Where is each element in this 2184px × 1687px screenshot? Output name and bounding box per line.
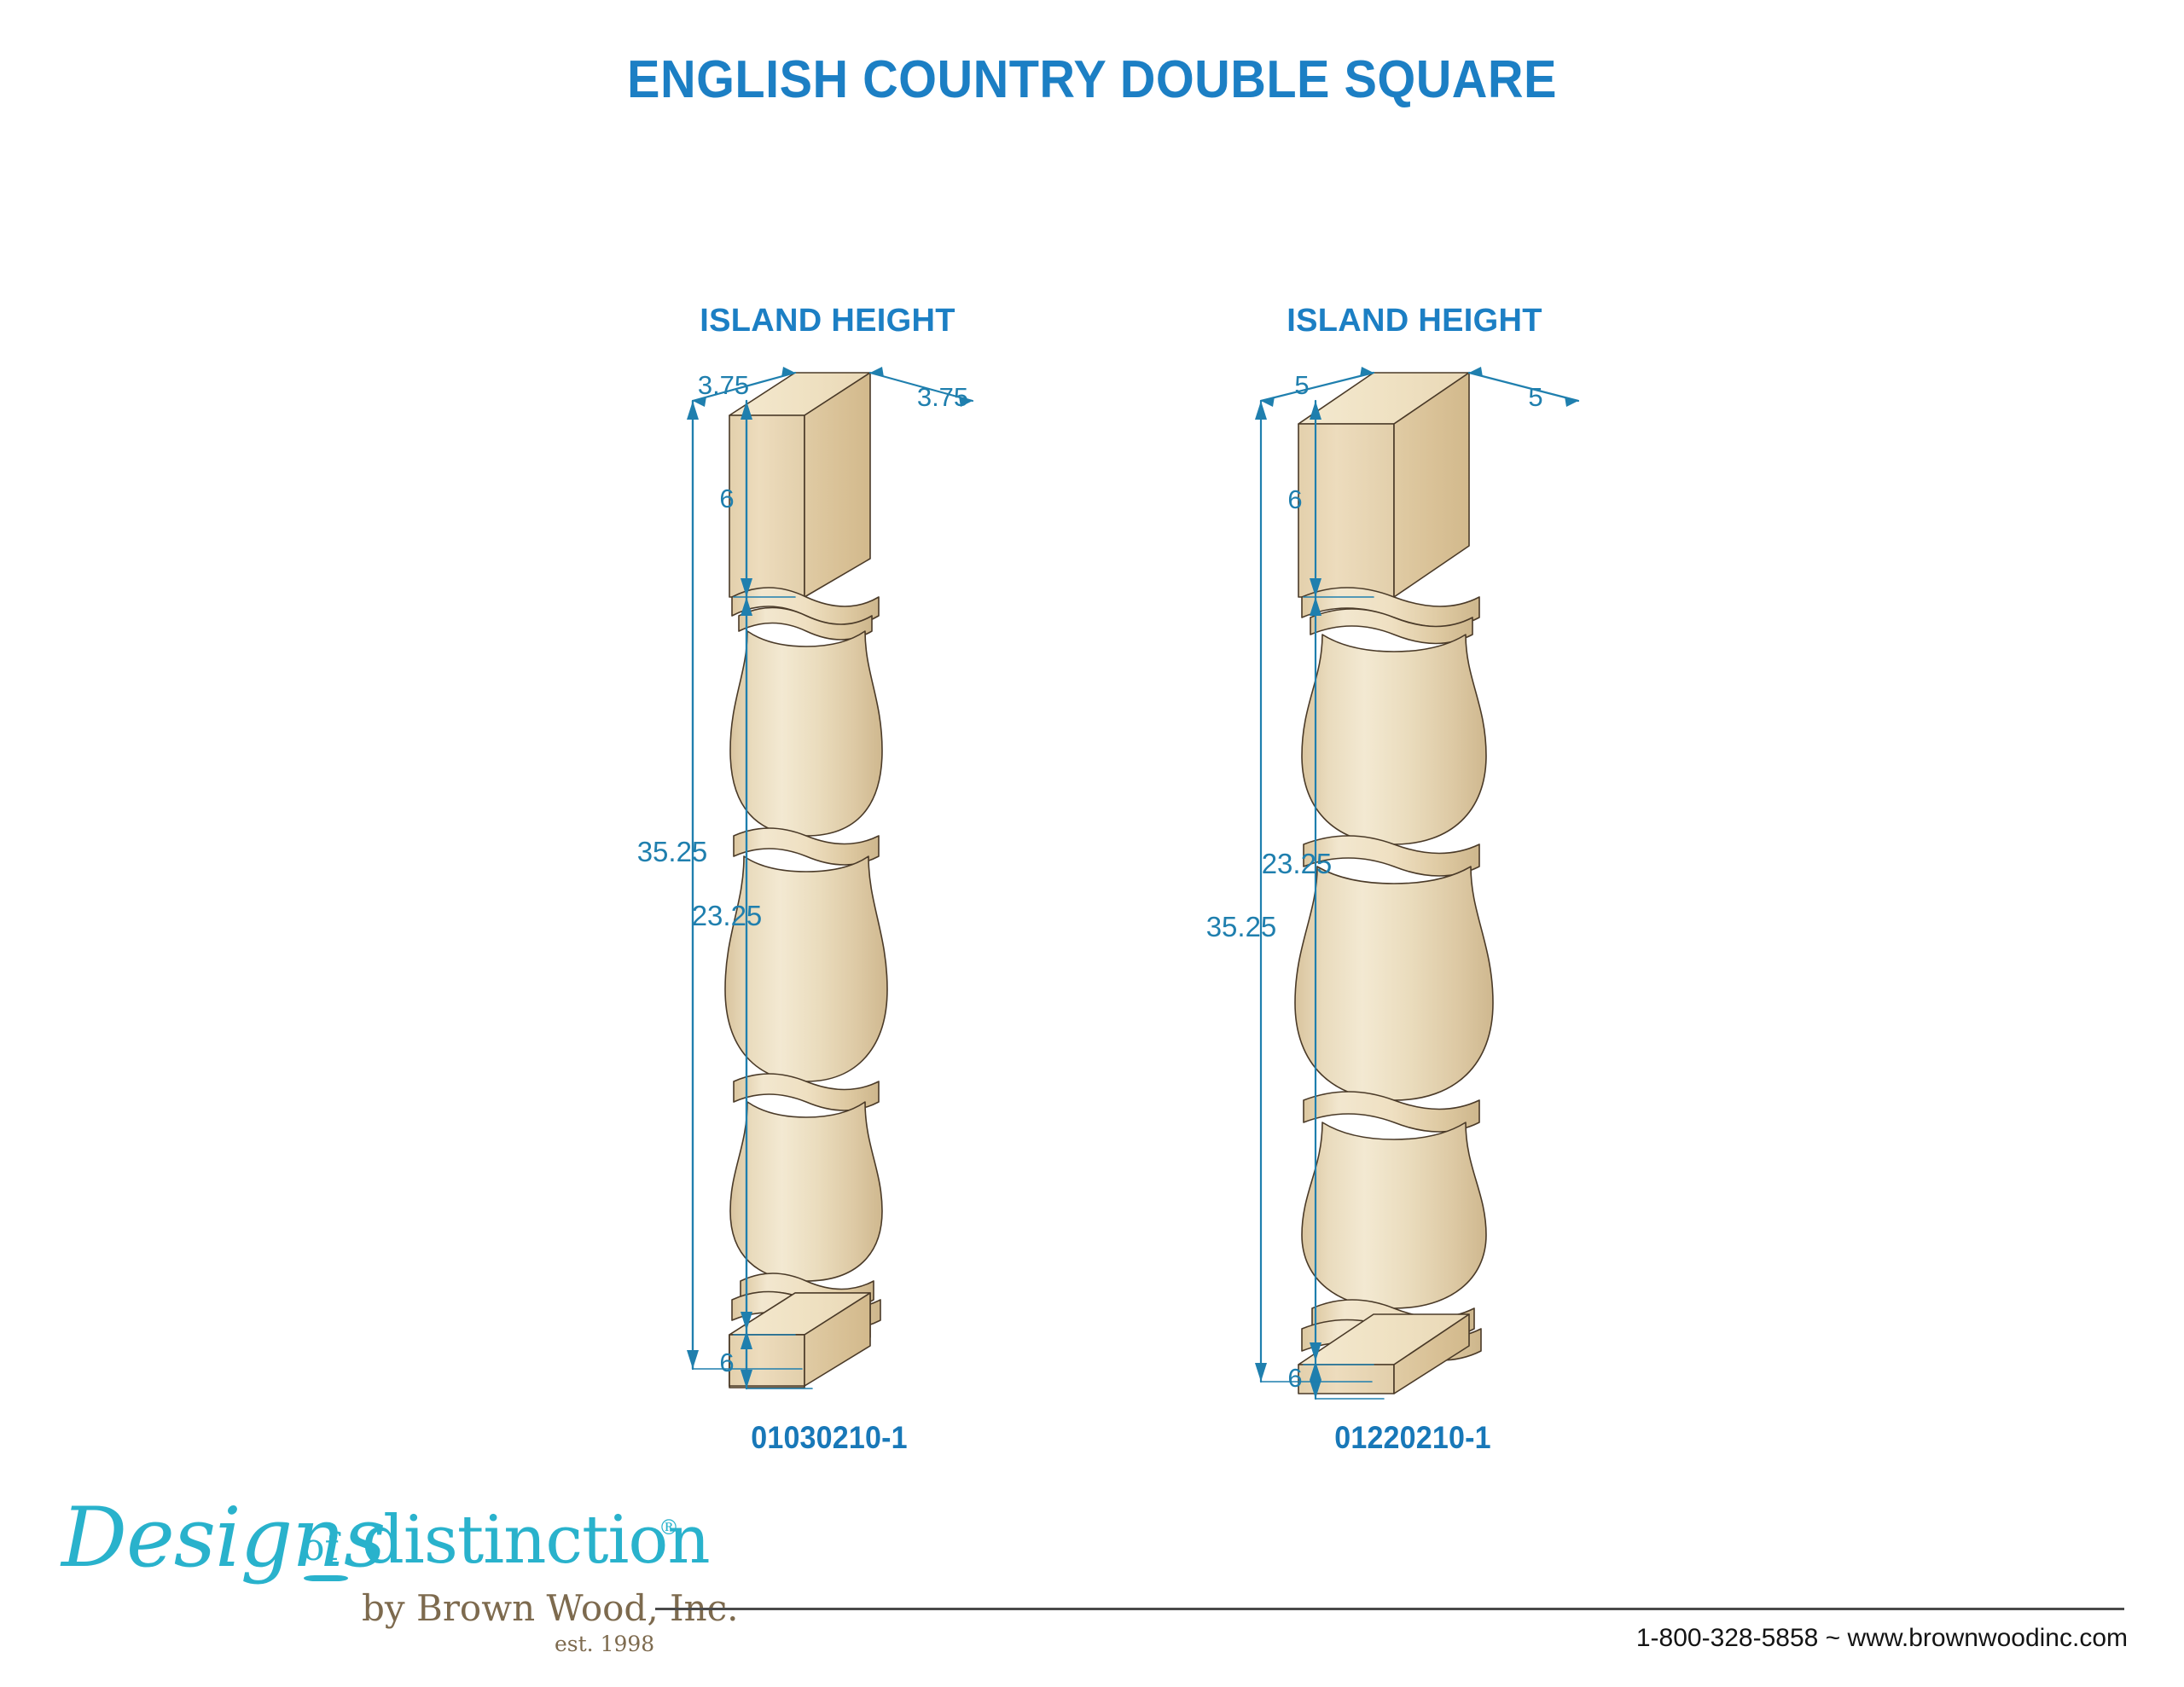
- dim-label-top-block-height: 6: [719, 484, 734, 513]
- product-figure-left: ISLAND HEIGHT: [597, 0, 1126, 1687]
- part-number-left: 01030210-1: [586, 1420, 1072, 1456]
- part-number-right: 01220210-1: [1138, 1420, 1687, 1456]
- product-figure-right: ISLAND HEIGHT: [1135, 0, 1732, 1687]
- company-logo: Designs of distinction ® by Brown Wood, …: [61, 1497, 710, 1655]
- footer-divider: [655, 1608, 2124, 1610]
- dim-label-turned-height: 23.25: [692, 900, 763, 931]
- registered-trademark-icon: ®: [659, 1516, 679, 1539]
- drawing-stage: ISLAND HEIGHT: [0, 0, 2184, 1687]
- dim-label-top-block-height: 6: [1287, 484, 1302, 514]
- dim-label-turned-height: 23.25: [1262, 848, 1333, 879]
- footer-contact-info: 1-800-328-5858 ~ www.brownwoodinc.com: [1636, 1624, 2128, 1653]
- dim-label-top-width-right: 5: [1528, 382, 1542, 412]
- logo-of-text: of: [302, 1526, 339, 1569]
- page-footer: Designs of distinction ® by Brown Wood, …: [0, 1491, 2184, 1687]
- dim-label-overall-height: 35.25: [1206, 911, 1277, 942]
- dim-label-bottom-block-height: 6: [719, 1348, 734, 1377]
- dim-label-top-width-left: 5: [1294, 370, 1309, 400]
- dim-label-top-width-left: 3.75: [698, 370, 749, 400]
- dim-label-overall-height: 35.25: [637, 836, 708, 867]
- logo-established-text: est. 1998: [555, 1632, 654, 1656]
- dim-label-bottom-block-height: 6: [1287, 1363, 1302, 1393]
- logo-distinction-text: distinction: [362, 1507, 710, 1574]
- logo-swash-icon: [304, 1575, 348, 1581]
- dim-label-top-width-right: 3.75: [917, 382, 968, 412]
